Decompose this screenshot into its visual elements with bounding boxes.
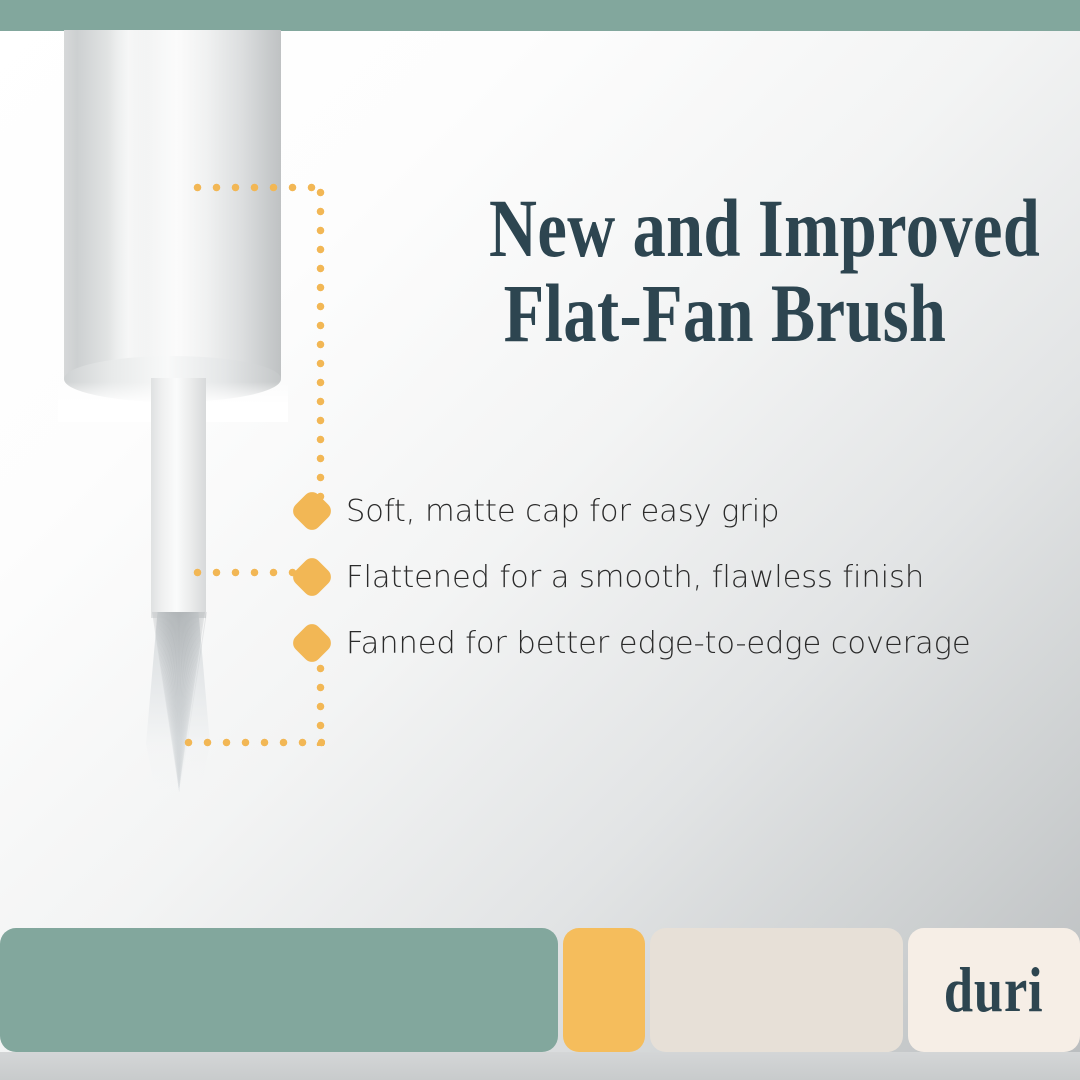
dotted-line-vertical-upper <box>316 183 325 505</box>
headline-line-2: Flat-Fan Brush <box>489 271 961 356</box>
cap-highlight <box>108 30 150 378</box>
dotted-line-bottom-horizontal <box>179 738 325 747</box>
list-item: Fanned for better edge-to-edge coverage <box>296 610 1056 676</box>
footer-base-strip <box>0 1052 1080 1080</box>
brush-stem <box>151 378 206 618</box>
footer-block-sage <box>0 928 558 1052</box>
feature-label: Flattened for a smooth, flawless finish <box>346 560 1056 595</box>
footer-block-beige <box>650 928 903 1052</box>
footer-block-amber <box>563 928 645 1052</box>
brand-wordmark: duri <box>944 958 1044 1022</box>
list-item: Flattened for a smooth, flawless finish <box>296 544 1056 610</box>
list-item: Soft, matte cap for easy grip <box>296 478 1056 544</box>
diamond-bullet-icon <box>289 488 334 533</box>
fanned-bristles <box>126 612 231 792</box>
promo-canvas: New and Improved Flat-Fan Brush Soft, ma… <box>0 0 1080 1080</box>
headline-line-1: New and Improved <box>489 186 961 271</box>
matte-cap <box>64 30 281 378</box>
feature-label: Fanned for better edge-to-edge coverage <box>346 626 1056 661</box>
diamond-bullet-icon <box>289 554 334 599</box>
diamond-bullet-icon <box>289 620 334 665</box>
feature-label: Soft, matte cap for easy grip <box>346 494 1056 529</box>
page-title: New and Improved Flat-Fan Brush <box>489 186 961 355</box>
feature-list: Soft, matte cap for easy grip Flattened … <box>296 478 1056 676</box>
footer-block-brand: duri <box>908 928 1080 1052</box>
dotted-line-top-horizontal <box>188 183 324 192</box>
footer-color-bar: duri <box>0 928 1080 1052</box>
product-photo <box>0 0 400 930</box>
